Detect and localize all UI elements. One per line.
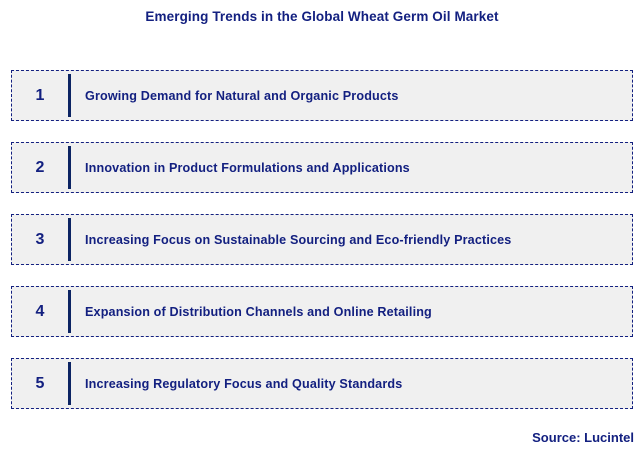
trend-label: Innovation in Product Formulations and A…	[71, 161, 632, 175]
trend-number: 4	[12, 304, 68, 320]
list-item[interactable]: 5 Increasing Regulatory Focus and Qualit…	[11, 358, 633, 409]
trend-number: 3	[12, 232, 68, 248]
trend-label: Growing Demand for Natural and Organic P…	[71, 89, 632, 103]
trend-number: 1	[12, 88, 68, 104]
trend-list: 1 Growing Demand for Natural and Organic…	[11, 70, 633, 409]
page-title: Emerging Trends in the Global Wheat Germ…	[0, 9, 644, 24]
trend-number: 2	[12, 160, 68, 176]
infographic-canvas: Emerging Trends in the Global Wheat Germ…	[0, 0, 644, 455]
list-item[interactable]: 2 Innovation in Product Formulations and…	[11, 142, 633, 193]
list-item[interactable]: 4 Expansion of Distribution Channels and…	[11, 286, 633, 337]
list-item[interactable]: 1 Growing Demand for Natural and Organic…	[11, 70, 633, 121]
source-attribution: Source: Lucintel	[532, 430, 634, 445]
trend-label: Increasing Regulatory Focus and Quality …	[71, 377, 632, 391]
trend-label: Increasing Focus on Sustainable Sourcing…	[71, 233, 632, 247]
trend-number: 5	[12, 376, 68, 392]
trend-label: Expansion of Distribution Channels and O…	[71, 305, 632, 319]
list-item[interactable]: 3 Increasing Focus on Sustainable Sourci…	[11, 214, 633, 265]
